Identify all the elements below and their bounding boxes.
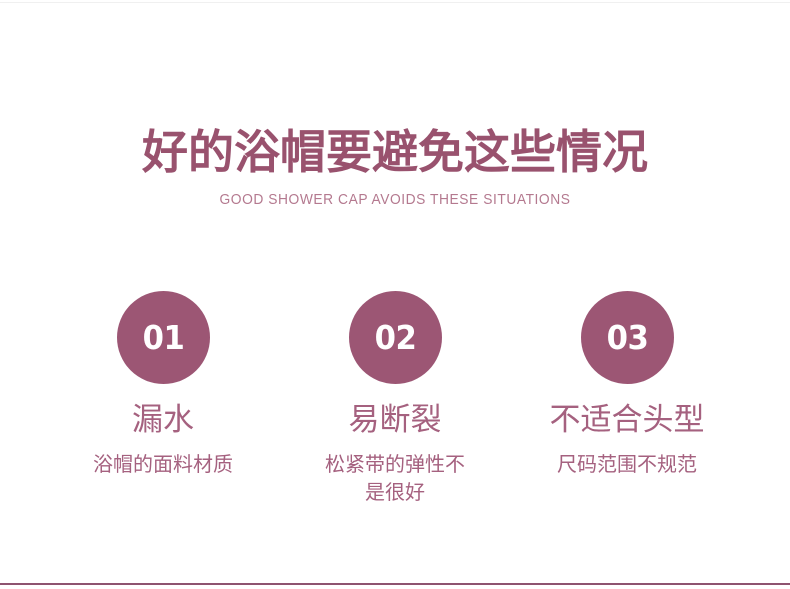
top-divider — [0, 2, 790, 3]
page-header: 好的浴帽要避免这些情况 GOOD SHOWER CAP AVOIDS THESE… — [0, 124, 790, 209]
feature-title-01: 漏水 — [132, 401, 194, 439]
feature-description-03: 尺码范围不规范 — [552, 450, 702, 478]
page-title: 好的浴帽要避免这些情况 — [0, 124, 790, 180]
badge-number-label: 02 — [374, 321, 416, 354]
bottom-divider — [0, 583, 790, 585]
feature-title-03: 不适合头型 — [550, 401, 705, 439]
badge-number-label: 03 — [606, 321, 648, 354]
number-badge-02: 02 — [349, 291, 442, 384]
promo-page: 好的浴帽要避免这些情况 GOOD SHOWER CAP AVOIDS THESE… — [0, 0, 790, 589]
page-subtitle: GOOD SHOWER CAP AVOIDS THESE SITUATIONS — [32, 191, 759, 209]
feature-description-02: 松紧带的弹性不是很好 — [320, 450, 470, 506]
feature-description-01: 浴帽的面料材质 — [88, 450, 238, 478]
badge-number-label: 01 — [142, 321, 184, 354]
number-badge-03: 03 — [581, 291, 674, 384]
feature-title-02: 易断裂 — [349, 401, 442, 439]
feature-column-03: 03 不适合头型 尺码范围不规范 — [511, 291, 743, 478]
number-badge-01: 01 — [117, 291, 210, 384]
feature-column-02: 02 易断裂 松紧带的弹性不是很好 — [279, 291, 511, 506]
feature-column-01: 01 漏水 浴帽的面料材质 — [47, 291, 279, 478]
feature-columns: 01 漏水 浴帽的面料材质 02 易断裂 松紧带的弹性不是很好 03 不适合头型… — [0, 291, 790, 506]
